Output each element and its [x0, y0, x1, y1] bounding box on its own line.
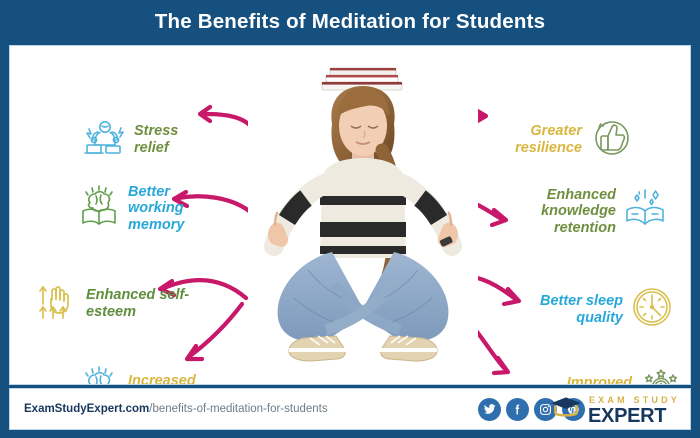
logo-top-text: EXAM STUDY — [589, 396, 680, 405]
benefit-better-working-memory: Better working memory — [76, 183, 210, 234]
hands-holding-star-icon — [638, 366, 684, 385]
thumbs-up-circle-icon — [588, 114, 634, 165]
arrowhead-attention — [187, 346, 202, 359]
open-book-sparkles-icon — [622, 186, 668, 237]
infographic-poster: The Benefits of Meditation for Students — [0, 0, 700, 438]
arrowhead-sleep — [504, 289, 519, 304]
meditating-student-photo — [248, 46, 478, 385]
twitter-icon[interactable] — [478, 398, 501, 421]
benefit-better-sleep-quality: Better sleep quality — [535, 284, 675, 335]
source-url: ExamStudyExpert.com/benefits-of-meditati… — [24, 403, 328, 415]
url-path: /benefits-of-meditation-for-students — [149, 403, 327, 415]
benefit-label: Better working memory — [128, 184, 210, 233]
main-canvas: Stress relief Better working memory — [9, 45, 691, 385]
benefit-enhanced-knowledge-retention: Enhanced knowledge retention — [508, 186, 668, 237]
arrowhead-knowledge — [492, 210, 506, 225]
benefit-enhanced-self-esteem: Enhanced self-esteem — [32, 278, 191, 329]
brain-book-sparkle-icon — [76, 364, 122, 385]
benefit-label: Stress relief — [134, 123, 206, 155]
benefit-improved-mental-health: Improved mental health — [520, 366, 684, 385]
brain-on-book-icon — [76, 183, 122, 234]
arrowhead-mental — [494, 358, 508, 373]
benefit-increased-attention: Increased attention — [76, 364, 228, 385]
page-title: The Benefits of Meditation for Students — [155, 10, 545, 34]
benefit-greater-resilience: Greater resilience — [502, 114, 634, 165]
striped-sweater — [320, 158, 406, 258]
wall-clock-icon — [629, 284, 675, 335]
benefit-label: Enhanced knowledge retention — [508, 187, 616, 236]
footer-bar: ExamStudyExpert.com/benefits-of-meditati… — [9, 388, 691, 430]
benefit-label: Better sleep quality — [535, 293, 623, 325]
benefit-label: Increased attention — [128, 373, 228, 385]
raised-fist-arrows-icon — [32, 278, 80, 329]
logo-bottom-text: EXPERT — [588, 406, 680, 426]
site-name: ExamStudyExpert.com — [24, 403, 149, 415]
arrow-to-attention — [190, 304, 242, 356]
benefit-label: Greater resilience — [502, 123, 582, 155]
graduation-cap-icon — [548, 393, 584, 428]
benefit-label: Enhanced self-esteem — [86, 287, 191, 319]
exam-study-expert-logo[interactable]: EXAM STUDY EXPERT — [548, 393, 680, 428]
benefit-stress-relief: Stress relief — [82, 114, 206, 165]
stressed-person-laptop-icon — [82, 114, 128, 165]
header-bar: The Benefits of Meditation for Students — [0, 0, 700, 44]
benefit-label: Improved mental health — [520, 375, 632, 385]
facebook-icon[interactable] — [506, 398, 529, 421]
